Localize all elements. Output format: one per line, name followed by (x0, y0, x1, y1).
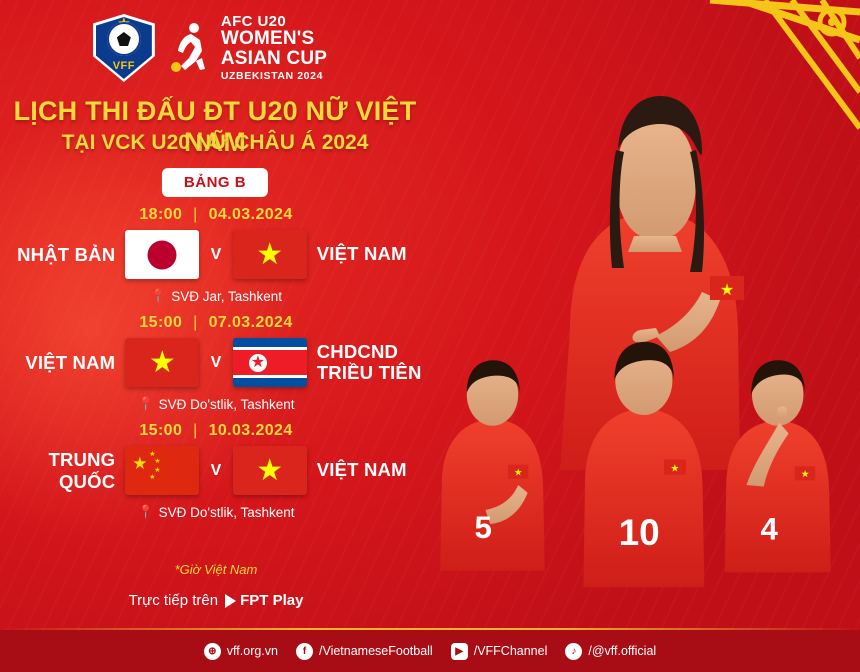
football-icon (107, 22, 141, 56)
match-date: 10.03.2024 (209, 422, 293, 439)
broadcast-info: Trực tiếp trên FPT Play (0, 592, 432, 609)
afc-line-4: UZBEKISTAN 2024 (221, 71, 327, 82)
match-time: 15:00 (139, 314, 182, 331)
match-venue: 📍 SVĐ Do'stlik, Tashkent (0, 387, 432, 412)
venue-label: SVĐ Do'stlik, Tashkent (159, 505, 295, 520)
home-team-name: VIỆT NAM (0, 352, 115, 374)
footer-website[interactable]: ⊕ vff.org.vn (204, 643, 278, 660)
tiktok-icon: ♪ (565, 643, 582, 660)
match-separator: | (193, 314, 198, 331)
versus-label: V (209, 462, 222, 480)
match-time: 18:00 (139, 206, 182, 223)
versus-label: V (209, 354, 222, 372)
match-datetime: 15:00 | 07.03.2024 (0, 308, 432, 338)
page-subtitle: TẠI VCK U20 NỮ CHÂU Á 2024 (0, 131, 430, 155)
svg-text:★: ★ (670, 463, 679, 474)
match-date: 07.03.2024 (209, 314, 293, 331)
footer-youtube-label: /VFFChannel (474, 644, 548, 658)
flag-vietnam: ★ (125, 338, 199, 387)
svg-text:4: 4 (761, 512, 779, 547)
svg-text:10: 10 (619, 512, 660, 553)
svg-text:★: ★ (801, 469, 809, 479)
globe-icon: ⊕ (204, 643, 221, 660)
location-pin-icon: 📍 (137, 396, 153, 412)
location-pin-icon: 📍 (137, 504, 153, 520)
match-datetime: 15:00 | 10.03.2024 (0, 416, 432, 446)
youtube-icon: ▶ (451, 643, 468, 660)
afc-cup-logo: AFC U20 WOMEN'S ASIAN CUP UZBEKISTAN 202… (169, 14, 327, 82)
venue-label: SVĐ Jar, Tashkent (171, 289, 282, 304)
away-team-name: VIỆT NAM (317, 460, 432, 481)
match-separator: | (193, 206, 198, 223)
home-team-name: TRUNG QUỐC (0, 449, 115, 493)
flag-china: ★ ★ ★ ★ ★ (125, 446, 199, 495)
vff-logo: ★ VFF (93, 14, 155, 82)
svg-text:5: 5 (475, 510, 492, 545)
footer-tiktok-label: /@vff.official (588, 644, 656, 658)
match-venue: 📍 SVĐ Do'stlik, Tashkent (0, 495, 432, 520)
afc-line-2: WOMEN'S (221, 29, 327, 48)
players-photo: ★ 5 ★ 10 ★ (420, 0, 860, 630)
home-team-name: NHẬT BẢN (0, 244, 115, 266)
group-badge: BẢNG B (162, 168, 268, 197)
match-teams: TRUNG QUỐC ★ ★ ★ ★ ★ V ★ VIỆT NAM (0, 446, 432, 495)
match-list: 18:00 | 04.03.2024 NHẬT BẢN V ★ VIỆT NAM… (0, 200, 432, 524)
svg-text:★: ★ (514, 468, 522, 478)
player-silhouette-icon (169, 20, 213, 76)
footer-facebook[interactable]: f /VietnameseFootball (296, 643, 433, 660)
footer-website-label: vff.org.vn (227, 644, 278, 658)
venue-label: SVĐ Do'stlik, Tashkent (159, 397, 295, 412)
timezone-note: *Giờ Việt Nam (0, 562, 432, 577)
match-teams: NHẬT BẢN V ★ VIỆT NAM (0, 230, 432, 279)
match-time: 15:00 (139, 422, 182, 439)
match-row: 15:00 | 10.03.2024 TRUNG QUỐC ★ ★ ★ ★ ★ … (0, 416, 432, 520)
broadcast-label: Trực tiếp trên (129, 592, 219, 609)
flag-vietnam: ★ (233, 230, 307, 279)
afc-line-3: ASIAN CUP (221, 49, 327, 68)
vff-logo-label: VFF (93, 60, 155, 72)
match-venue: 📍 SVĐ Jar, Tashkent (0, 279, 432, 304)
facebook-icon: f (296, 643, 313, 660)
footer-facebook-label: /VietnameseFootball (319, 644, 433, 658)
match-row: 18:00 | 04.03.2024 NHẬT BẢN V ★ VIỆT NAM… (0, 200, 432, 304)
flag-japan (125, 230, 199, 279)
away-team-name: CHDCND TRIỀU TIÊN (317, 342, 432, 383)
footer-social-bar: ⊕ vff.org.vn f /VietnameseFootball ▶ /VF… (0, 630, 860, 672)
header-logos: ★ VFF AFC U20 WOMEN'S ASIAN CUP U (0, 14, 420, 82)
away-team-name: VIỆT NAM (317, 244, 432, 265)
versus-label: V (209, 246, 222, 264)
location-pin-icon: 📍 (150, 288, 166, 304)
footer-tiktok[interactable]: ♪ /@vff.official (565, 643, 656, 660)
flag-north-korea: ★ (233, 338, 307, 387)
match-teams: VIỆT NAM ★ V ★ CHDCND TRIỀU TIÊN (0, 338, 432, 387)
fpt-play-logo: FPT Play (225, 592, 303, 609)
afc-line-1: AFC U20 (221, 14, 327, 29)
broadcast-channel: FPT Play (240, 592, 303, 609)
footer-youtube[interactable]: ▶ /VFFChannel (451, 643, 548, 660)
match-separator: | (193, 422, 198, 439)
match-row: 15:00 | 07.03.2024 VIỆT NAM ★ V ★ CHDCND… (0, 308, 432, 412)
poster-root: ★ VFF AFC U20 WOMEN'S ASIAN CUP U (0, 0, 860, 672)
play-icon (225, 594, 236, 608)
svg-text:★: ★ (720, 282, 734, 299)
match-datetime: 18:00 | 04.03.2024 (0, 200, 432, 230)
flag-vietnam: ★ (233, 446, 307, 495)
match-date: 04.03.2024 (209, 206, 293, 223)
